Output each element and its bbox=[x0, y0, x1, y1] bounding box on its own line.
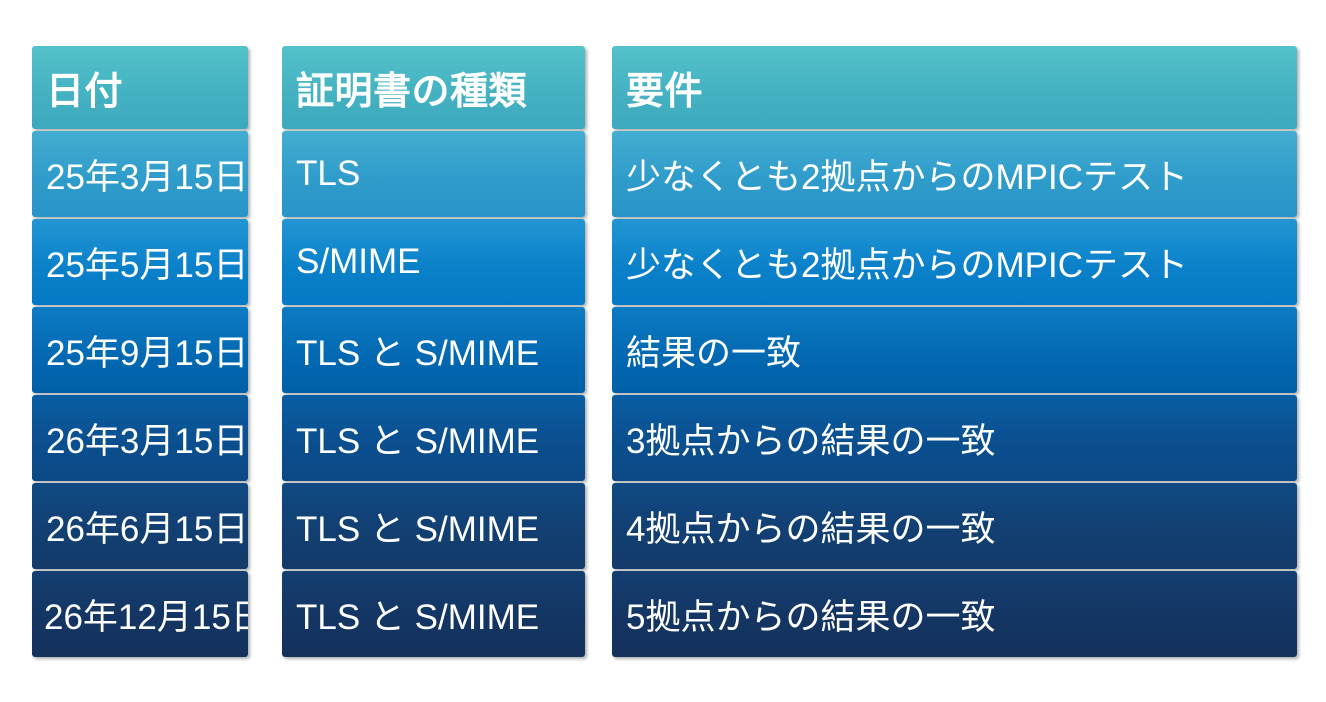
table-row: 26年3月15日 TLS と S/MIME 3拠点からの結果の一致 bbox=[32, 395, 1297, 481]
cell-requirement: 少なくとも2拠点からのMPICテスト bbox=[612, 131, 1297, 217]
cell-requirement: 4拠点からの結果の一致 bbox=[612, 483, 1297, 569]
cell-date: 26年3月15日 bbox=[32, 395, 248, 481]
cell-certificate-type: S/MIME bbox=[282, 219, 585, 305]
table-row: 25年5月15日 S/MIME 少なくとも2拠点からのMPICテスト bbox=[32, 219, 1297, 305]
cell-requirement: 3拠点からの結果の一致 bbox=[612, 395, 1297, 481]
table-row: 25年9月15日 TLS と S/MIME 結果の一致 bbox=[32, 307, 1297, 393]
column-header-certificate-type: 証明書の種類 bbox=[282, 46, 585, 129]
cell-date: 25年5月15日 bbox=[32, 219, 248, 305]
cell-date: 26年6月15日 bbox=[32, 483, 248, 569]
table-row: 26年6月15日 TLS と S/MIME 4拠点からの結果の一致 bbox=[32, 483, 1297, 569]
cell-requirement: 少なくとも2拠点からのMPICテスト bbox=[612, 219, 1297, 305]
column-header-date: 日付 bbox=[32, 46, 248, 129]
table-row: 26年12月15日 TLS と S/MIME 5拠点からの結果の一致 bbox=[32, 571, 1297, 657]
cell-date: 26年12月15日 bbox=[32, 571, 248, 657]
cell-date: 25年3月15日 bbox=[32, 131, 248, 217]
table-header-row: 日付 証明書の種類 要件 bbox=[32, 46, 1297, 129]
cell-certificate-type: TLS と S/MIME bbox=[282, 571, 585, 657]
cell-certificate-type: TLS と S/MIME bbox=[282, 395, 585, 481]
cell-requirement: 結果の一致 bbox=[612, 307, 1297, 393]
cell-certificate-type: TLS と S/MIME bbox=[282, 483, 585, 569]
schedule-table: 日付 証明書の種類 要件 25年3月15日 TLS 少なくとも2拠点からのMPI… bbox=[32, 46, 1297, 662]
column-header-requirement: 要件 bbox=[612, 46, 1297, 129]
table-row: 25年3月15日 TLS 少なくとも2拠点からのMPICテスト bbox=[32, 131, 1297, 217]
cell-date: 25年9月15日 bbox=[32, 307, 248, 393]
cell-requirement: 5拠点からの結果の一致 bbox=[612, 571, 1297, 657]
cell-certificate-type: TLS と S/MIME bbox=[282, 307, 585, 393]
cell-certificate-type: TLS bbox=[282, 131, 585, 217]
